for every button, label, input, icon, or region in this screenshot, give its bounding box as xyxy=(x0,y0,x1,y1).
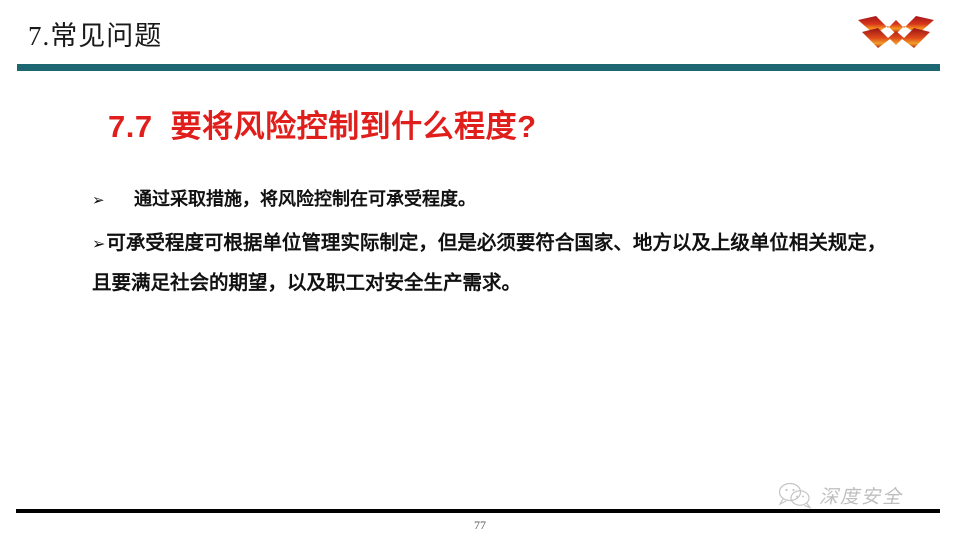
footer-divider xyxy=(16,509,940,513)
bullet-text: 可承受程度可根据单位管理实际制定，但是必须要符合国家、地方以及上级单位相关规定，… xyxy=(92,232,886,294)
wechat-icon xyxy=(778,482,812,509)
section-heading-text: 要将风险控制到什么程度? xyxy=(171,109,537,144)
page-number: 77 xyxy=(0,518,960,533)
corporate-emblem-icon xyxy=(856,12,936,54)
section-heading: 7.7要将风险控制到什么程度? xyxy=(108,101,537,146)
section-number: 7.7 xyxy=(108,109,153,144)
bullet-text: 通过采取措施，将风险控制在可承受程度。 xyxy=(134,189,476,209)
bullet-item: ➢可承受程度可根据单位管理实际制定，但是必须要符合国家、地方以及上级单位相关规定… xyxy=(92,224,892,302)
header-divider xyxy=(17,64,940,71)
bullet-arrow-icon: ➢ xyxy=(92,183,134,219)
page-title: 7.常见问题 xyxy=(28,14,162,53)
content-body: ➢通过采取措施，将风险控制在可承受程度。 ➢可承受程度可根据单位管理实际制定，但… xyxy=(92,181,892,302)
watermark-label: 深度安全 xyxy=(819,482,903,509)
watermark: 深度安全 xyxy=(778,482,903,509)
slide-canvas: 7.常见问题 7.7要将风 xyxy=(0,0,960,540)
bullet-arrow-icon: ➢ xyxy=(92,236,105,253)
bullet-item: ➢通过采取措施，将风险控制在可承受程度。 xyxy=(92,181,892,219)
corporate-logo xyxy=(856,12,936,54)
